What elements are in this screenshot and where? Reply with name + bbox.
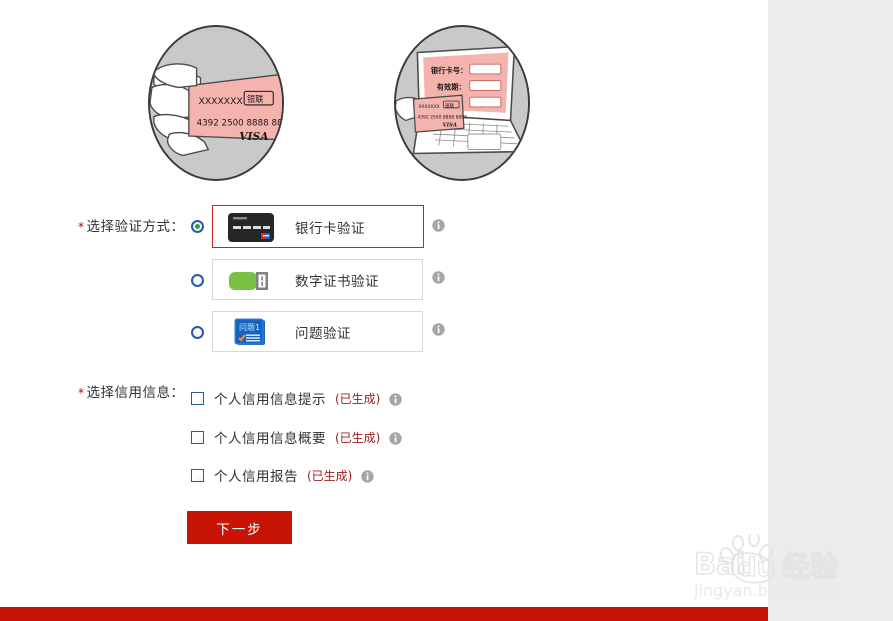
bottom-red-bar xyxy=(0,607,768,621)
verify-method-label-text: 选择验证方式： xyxy=(87,219,185,235)
checkbox-credit-report[interactable] xyxy=(191,469,204,482)
page-canvas: XXXXXXX 银联 4392 2500 8888 888 VISA 银行卡号：… xyxy=(0,0,768,621)
svg-text:VISA: VISA xyxy=(443,122,457,128)
svg-text:XXXXXXX: XXXXXXX xyxy=(418,104,439,110)
info-icon-question[interactable] xyxy=(432,323,445,336)
info-icon-digital-certificate[interactable] xyxy=(432,271,445,284)
credit-info-label: *选择信用信息： xyxy=(78,381,185,401)
option-label-digital-certificate: 数字证书验证 xyxy=(295,270,379,290)
next-step-button[interactable]: 下一步 xyxy=(187,511,292,544)
illustration-laptop-card-entry: 银行卡号： 有效期： 预留手机： XXXXXXX 银联 4392 2 xyxy=(394,25,530,181)
radio-question[interactable] xyxy=(191,326,204,339)
option-label-bank-card: 银行卡验证 xyxy=(295,217,365,237)
option-box-digital-certificate[interactable]: 数字证书验证 xyxy=(212,259,423,300)
credit-item-note-1: (已生成) xyxy=(335,390,380,407)
checkbox-credit-tip[interactable] xyxy=(191,392,204,405)
credit-item-note-2: (已生成) xyxy=(335,429,380,446)
bank-card-icon xyxy=(227,211,275,243)
svg-text:XXXXXXX: XXXXXXX xyxy=(199,96,244,107)
svg-text:4392 2500 8888 888: 4392 2500 8888 888 xyxy=(197,118,282,128)
svg-text:银联: 银联 xyxy=(445,102,454,109)
credit-item-row-1: 个人信用信息提示 (已生成) xyxy=(191,388,402,408)
verify-method-label: *选择验证方式： xyxy=(78,215,185,235)
required-star-credit: * xyxy=(78,386,85,400)
right-gutter xyxy=(768,0,893,621)
svg-text:问题1: 问题1 xyxy=(239,323,260,332)
option-box-bank-card[interactable]: 银行卡验证 xyxy=(212,205,424,248)
svg-text:有效期：: 有效期： xyxy=(437,82,466,91)
svg-text:VISA: VISA xyxy=(239,130,268,143)
info-icon-credit-tip[interactable] xyxy=(389,393,402,406)
credit-info-label-text: 选择信用信息： xyxy=(87,385,185,401)
credit-item-row-3: 个人信用报告 (已生成) xyxy=(191,465,374,485)
svg-text:4392 2500 8888 8888: 4392 2500 8888 8888 xyxy=(417,115,467,121)
info-icon-credit-summary[interactable] xyxy=(389,432,402,445)
credit-item-label-1: 个人信用信息提示 xyxy=(214,388,326,408)
info-icon-bank-card[interactable] xyxy=(432,219,445,232)
credit-item-row-2: 个人信用信息概要 (已生成) xyxy=(191,427,402,447)
option-box-question[interactable]: 问题1 问题验证 xyxy=(212,311,423,352)
illustration-hand-holding-bank-card: XXXXXXX 银联 4392 2500 8888 888 VISA xyxy=(148,25,284,181)
checkbox-credit-summary[interactable] xyxy=(191,431,204,444)
radio-bank-card[interactable] xyxy=(191,220,204,233)
radio-digital-certificate[interactable] xyxy=(191,274,204,287)
svg-text:银行卡号：: 银行卡号： xyxy=(431,66,467,75)
credit-item-note-3: (已生成) xyxy=(307,467,352,484)
required-star: * xyxy=(78,220,85,234)
svg-text:银联: 银联 xyxy=(247,94,264,104)
info-icon-credit-report[interactable] xyxy=(361,470,374,483)
option-label-question: 问题验证 xyxy=(295,322,351,342)
question-card-icon: 问题1 xyxy=(227,316,275,348)
credit-item-label-2: 个人信用信息概要 xyxy=(214,427,326,447)
credit-item-label-3: 个人信用报告 xyxy=(214,465,298,485)
usb-key-icon xyxy=(227,264,275,296)
